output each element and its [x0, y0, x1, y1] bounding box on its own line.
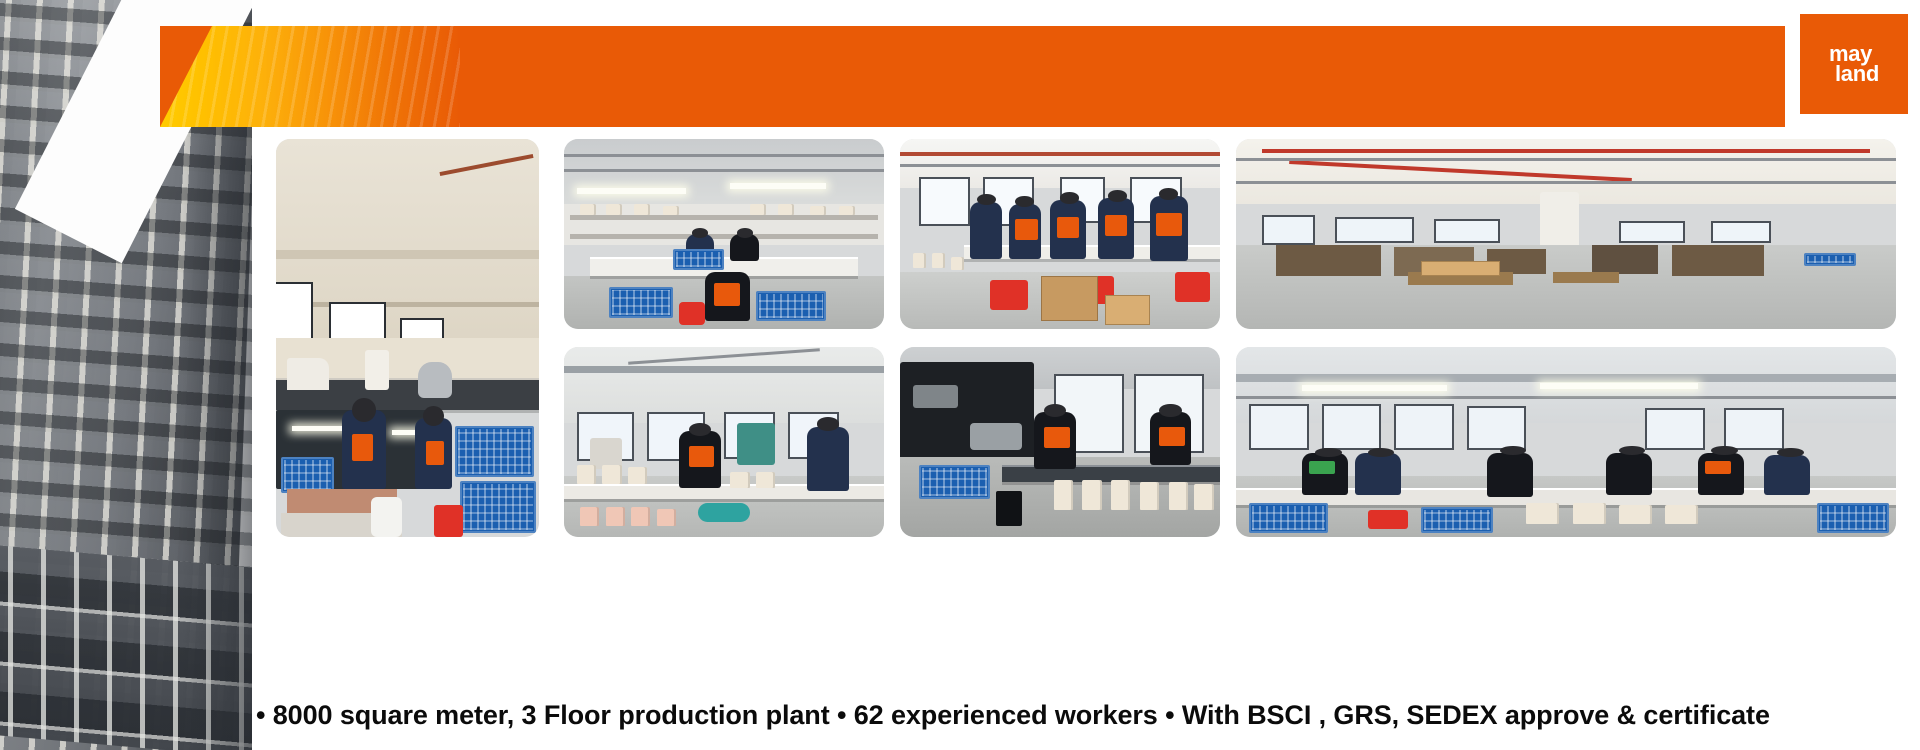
- photo-4-scene: [1236, 139, 1896, 329]
- gallery-photo-1: [276, 139, 539, 537]
- photo-gallery: [276, 139, 1896, 539]
- slide-caption: • 8000 square meter, 3 Floor production …: [256, 700, 1916, 731]
- photo-5-scene: [564, 347, 884, 537]
- slide-root: may land: [0, 0, 1920, 750]
- photo-7-scene: [1236, 347, 1896, 537]
- gallery-photo-2: [564, 139, 884, 329]
- photo-2-scene: [564, 139, 884, 329]
- gallery-photo-4: [1236, 139, 1896, 329]
- header-banner: [160, 26, 1785, 127]
- gallery-photo-6: [900, 347, 1220, 537]
- banner-gradient-wedge: [160, 26, 460, 127]
- brand-logo: may land: [1800, 14, 1908, 114]
- gallery-photo-5: [564, 347, 884, 537]
- photo-3-scene: [900, 139, 1220, 329]
- brand-logo-text: may land: [1829, 44, 1879, 84]
- photo-6-scene: [900, 347, 1220, 537]
- logo-line-2: land: [1829, 64, 1879, 84]
- gallery-photo-3: [900, 139, 1220, 329]
- gallery-photo-7: [1236, 347, 1896, 537]
- photo-1-scene: [276, 139, 539, 537]
